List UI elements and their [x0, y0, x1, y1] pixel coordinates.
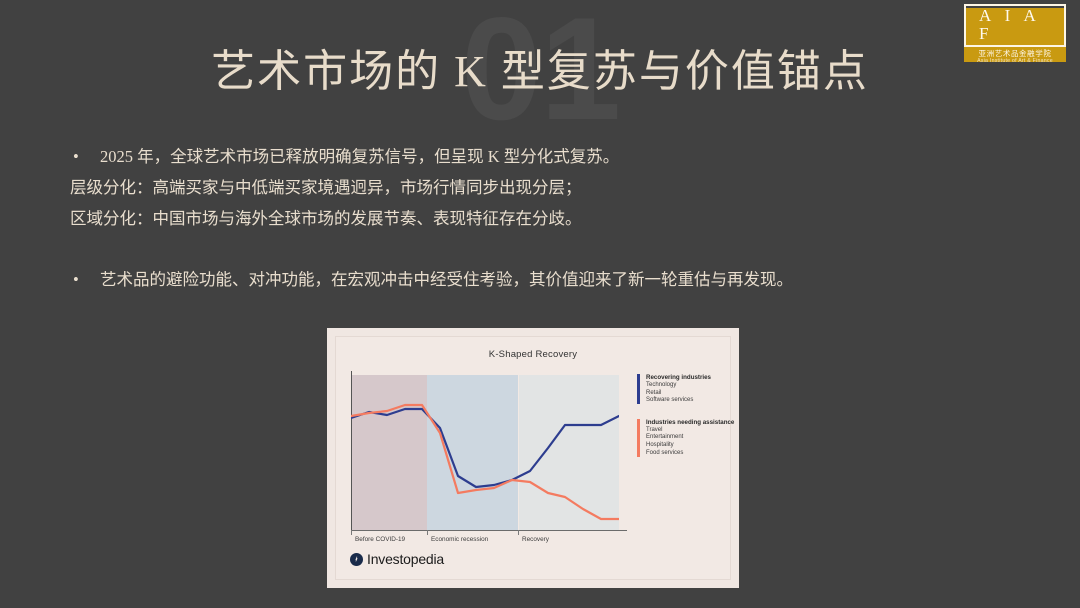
page-title: 艺术市场的 K 型复苏与价值锚点 — [0, 46, 1080, 98]
x-axis-tick — [427, 530, 428, 535]
x-label-recession: Economic recession — [431, 536, 488, 543]
series-line-needing-assistance — [351, 405, 619, 519]
series-line-recovering — [351, 409, 619, 487]
legend-item-food-services: Food services — [646, 450, 733, 458]
logo-name-en: Asia Institute of Art & Finance — [977, 58, 1053, 65]
legend-swatch-recovering — [637, 374, 640, 404]
bullet-item-2: • 艺术品的避险功能、对冲功能，在宏观冲击中经受住考验，其价值迎来了新一轮重估与… — [70, 264, 970, 295]
investopedia-bolt-icon — [350, 553, 363, 566]
legend-item-travel: Travel — [646, 427, 733, 435]
investopedia-brand: Investopedia — [350, 551, 444, 567]
legend-group-recovering: Recovering industries Technology Retail … — [637, 373, 733, 405]
legend-item-entertainment: Entertainment — [646, 434, 733, 442]
paragraph-spacer — [70, 234, 970, 264]
body-line-1: 层级分化：高端买家与中低端买家境遇迥异，市场行情同步出现分层； — [70, 172, 970, 203]
x-label-before-covid: Before COVID-19 — [355, 536, 405, 543]
legend-item-hospitality: Hospitality — [646, 442, 733, 450]
x-label-recovery: Recovery — [522, 536, 549, 543]
body-line-2: 区域分化：中国市场与海外全球市场的发展节奏、表现特征存在分歧。 — [70, 203, 970, 234]
bullet-item-1: • 2025 年，全球艺术市场已释放明确复苏信号，但呈现 K 型分化式复苏。 — [70, 141, 970, 172]
bullet-2-text: 艺术品的避险功能、对冲功能，在宏观冲击中经受住考验，其价值迎来了新一轮重估与再发… — [100, 264, 970, 295]
bullet-1-text: 2025 年，全球艺术市场已释放明确复苏信号，但呈现 K 型分化式复苏。 — [100, 141, 970, 172]
slide-root: 01 艺术市场的 K 型复苏与价值锚点 A I A F 亚洲艺术品金融学院 As… — [0, 0, 1080, 608]
x-axis-tick — [518, 530, 519, 535]
logo-name-cn: 亚洲艺术品金融学院 — [979, 49, 1052, 58]
bullet-marker-icon-2: • — [70, 264, 100, 295]
x-axis-tick — [351, 530, 352, 535]
legend-swatch-needing-assistance — [637, 419, 640, 457]
chart-legend: Recovering industries Technology Retail … — [637, 373, 733, 470]
logo-letters: A I A F — [975, 7, 1055, 43]
body-content: • 2025 年，全球艺术市场已释放明确复苏信号，但呈现 K 型分化式复苏。 层… — [70, 141, 970, 295]
chart-inner-frame: K-Shaped Recovery Before COVID-19 Econom… — [335, 336, 731, 580]
chart-title: K-Shaped Recovery — [336, 349, 730, 360]
chart-card: K-Shaped Recovery Before COVID-19 Econom… — [327, 328, 739, 588]
legend-title-recovering: Recovering industries — [646, 373, 733, 382]
chart-series-svg — [351, 375, 619, 530]
legend-group-needing-assistance: Industries needing assistance Travel Ent… — [637, 418, 733, 457]
chart-plot-area — [351, 375, 619, 530]
aiaf-logo: A I A F 亚洲艺术品金融学院 Asia Institute of Art … — [964, 8, 1066, 62]
legend-item-software-services: Software services — [646, 397, 733, 405]
legend-title-needing-assistance: Industries needing assistance — [646, 418, 733, 427]
investopedia-wordmark: Investopedia — [367, 551, 444, 567]
x-axis-labels: Before COVID-19 Economic recession Recov… — [351, 536, 641, 550]
logo-letter-box: A I A F — [964, 4, 1066, 47]
legend-item-technology: Technology — [646, 382, 733, 390]
bullet-marker-icon: • — [70, 141, 100, 172]
legend-item-retail: Retail — [646, 390, 733, 398]
